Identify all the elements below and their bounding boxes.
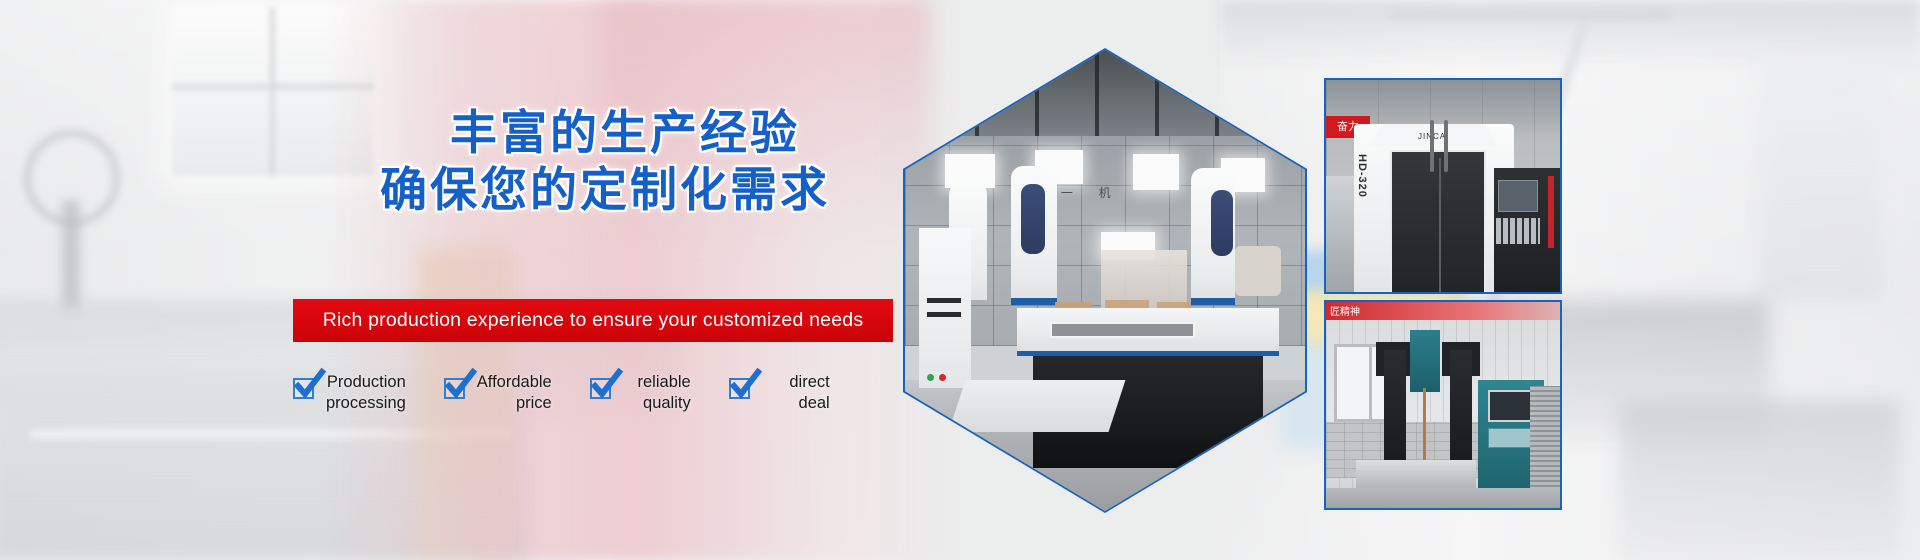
roof-beam (1155, 50, 1159, 142)
machine-button-panel (927, 368, 967, 376)
hero-photo-hexagon[interactable]: 定 一 机 (903, 48, 1307, 513)
machine-column-window (1021, 184, 1045, 254)
checkbox-checked-icon[interactable] (729, 378, 750, 399)
machine-right-controller (1235, 246, 1281, 296)
hexagon-photo: 定 一 机 (905, 50, 1305, 511)
feature-label: Affordable price (477, 372, 552, 415)
roof-beam (975, 50, 979, 142)
factory-roof (905, 50, 1305, 142)
electrical-cabinet (1530, 386, 1560, 490)
door-handle (1430, 120, 1434, 172)
checkbox-checked-icon[interactable] (590, 378, 611, 399)
gantry-spindle-head (1410, 330, 1440, 392)
feature-label: Production processing (326, 372, 406, 415)
feature-list: Production processing Affordable price r… (293, 372, 830, 415)
gantry-post-left (1384, 350, 1406, 478)
wall-banner-text: 匠精神 (1330, 307, 1360, 318)
feature-item-affordable-price[interactable]: Affordable price (444, 372, 552, 415)
factory-window (1133, 154, 1179, 190)
feature-item-production-processing[interactable]: Production processing (293, 372, 406, 415)
door-handle (1444, 120, 1448, 172)
machine-model-label: HD-320 (1356, 154, 1368, 198)
headline-line-1: 丰富的生产经验 (325, 105, 885, 162)
feature-item-direct-deal[interactable]: direct deal (729, 372, 830, 415)
control-cabinet-panel (1488, 428, 1532, 448)
machine-side-unit (919, 228, 971, 388)
roof-beam (1215, 50, 1219, 142)
thumbnail-hd320[interactable]: 奋力 JINCAI HD-320 (1324, 78, 1562, 294)
machine-conveyor (949, 380, 1126, 432)
workshop-floor (1326, 488, 1560, 510)
headline-line-2: 确保您的定制化需求 (325, 162, 885, 219)
feature-label: direct deal (762, 372, 830, 415)
cnc-screen (1498, 180, 1538, 212)
promo-banner: 丰富的生产经验 确保您的定制化需求 Rich production experi… (0, 0, 1920, 560)
subtitle-text: Rich production experience to ensure you… (323, 309, 864, 332)
background-right-beam-horizontal (1390, 10, 1670, 19)
thumbnail-gantry-machine[interactable]: 匠精神 (1324, 300, 1562, 510)
machine-bed-window (1050, 322, 1195, 338)
gantry-post-right (1450, 350, 1472, 478)
checkbox-checked-icon[interactable] (444, 378, 465, 399)
factory-machine-illustration: 定 一 机 (905, 50, 1305, 511)
wall-banner: 匠精神 (1326, 302, 1560, 320)
subtitle-bar: Rich production experience to ensure you… (293, 299, 893, 342)
machine-column-window (1211, 190, 1233, 256)
roof-beam (1035, 50, 1039, 142)
control-cabinet-screen (1488, 390, 1532, 422)
headline-block: 丰富的生产经验 确保您的定制化需求 (325, 105, 885, 220)
feature-label: reliable quality (623, 372, 691, 415)
machine-doors (1390, 150, 1486, 294)
roof-beam (1095, 50, 1099, 142)
feature-item-reliable-quality[interactable]: reliable quality (590, 372, 691, 415)
machine-column-base (1011, 298, 1057, 305)
cnc-keypad (1496, 218, 1540, 244)
checkbox-checked-icon[interactable] (293, 378, 314, 399)
machine-column-base (1191, 298, 1235, 305)
emergency-strip (1548, 176, 1554, 248)
background-right-panel (1760, 60, 1880, 300)
background-right-machine-lower (1620, 400, 1900, 560)
background-fan-stem (62, 200, 80, 310)
